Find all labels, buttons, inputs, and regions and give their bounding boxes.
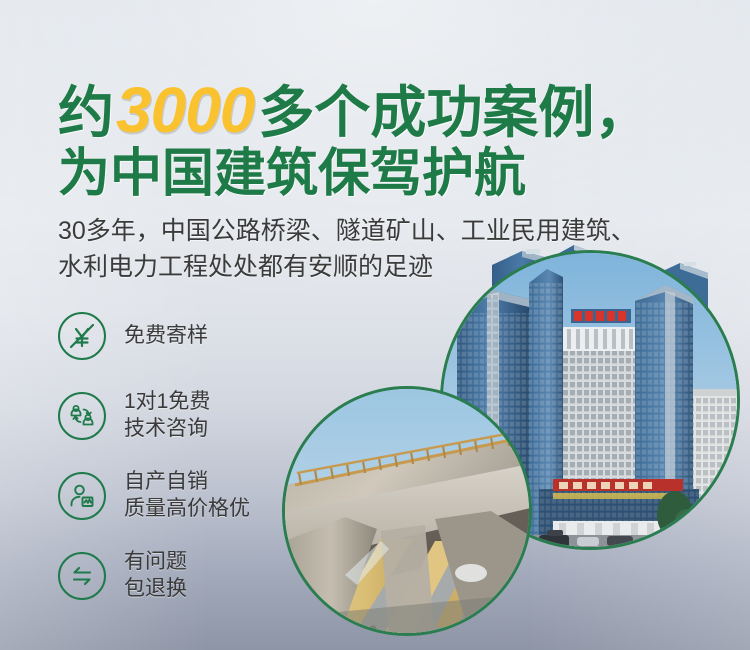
person-chart-icon bbox=[58, 472, 106, 520]
banner-stage: 约3000多个成功案例， 为中国建筑保驾护航 30多年，中国公路桥梁、隧道矿山、… bbox=[0, 0, 750, 650]
headline: 约3000多个成功案例， 为中国建筑保驾护航 bbox=[58, 78, 650, 200]
no-fee-yen-icon bbox=[58, 312, 106, 360]
feature-item-consultation[interactable]: 1对1免费 技术咨询 bbox=[58, 376, 250, 456]
feature-label-line1: 有问题 bbox=[124, 549, 187, 576]
photo-bridge-underside bbox=[282, 386, 532, 636]
feature-item-return-exchange[interactable]: 有问题 包退换 bbox=[58, 536, 250, 616]
feature-label-line1: 1对1免费 bbox=[124, 389, 210, 416]
feature-label: 1对1免费 技术咨询 bbox=[124, 389, 210, 443]
feature-label-line1: 免费寄样 bbox=[124, 324, 208, 347]
headline-line1: 约3000多个成功案例， bbox=[58, 78, 650, 142]
feature-label-line2: 质量高价格优 bbox=[124, 496, 250, 523]
headline-suffix: 多个成功案例， bbox=[258, 81, 650, 144]
feature-label-line2: 包退换 bbox=[124, 576, 187, 603]
headline-line2: 为中国建筑保驾护航 bbox=[58, 148, 650, 200]
feature-list: 免费寄样 1对1免费 技术咨询 bbox=[58, 296, 250, 616]
feature-label: 自产自销 质量高价格优 bbox=[124, 469, 250, 523]
two-person-exchange-icon bbox=[58, 392, 106, 440]
headline-number: 3000 bbox=[114, 74, 258, 146]
feature-label-line2: 技术咨询 bbox=[124, 416, 210, 443]
bridge-scene-svg bbox=[285, 389, 532, 636]
feature-label-line1: 自产自销 bbox=[124, 469, 250, 496]
feature-item-free-sample[interactable]: 免费寄样 bbox=[58, 296, 250, 376]
feature-label: 有问题 包退换 bbox=[124, 549, 187, 603]
feature-label: 免费寄样 bbox=[124, 323, 208, 350]
return-exchange-arrows-icon bbox=[58, 552, 106, 600]
feature-item-self-production[interactable]: 自产自销 质量高价格优 bbox=[58, 456, 250, 536]
headline-prefix: 约 bbox=[58, 81, 114, 144]
